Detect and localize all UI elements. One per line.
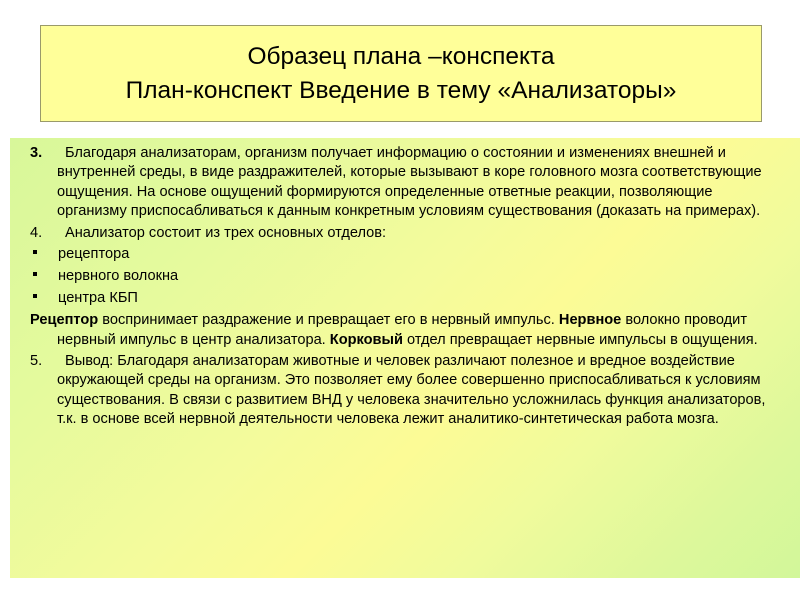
list-item: центра КБП — [20, 287, 785, 309]
bullet-square-icon — [33, 250, 37, 254]
list-item-4-text: Анализатор состоит из трех основных отде… — [57, 224, 785, 243]
list-item: рецептора — [20, 243, 785, 265]
list-item-3-number: 3. — [30, 144, 42, 163]
bullet-square-icon — [33, 272, 37, 276]
list-item-3: 3. Благодаря анализаторам, организм полу… — [20, 144, 785, 221]
bullet-square-icon — [33, 294, 37, 298]
list-item-4-number: 4. — [30, 224, 42, 243]
receptor-paragraph: Рецептор воспринимает раздражение и прев… — [20, 311, 785, 350]
slide-title-line-2: План-конспект Введение в тему «Анализато… — [126, 74, 677, 108]
term-cortical: Корковый — [330, 332, 403, 348]
list-item-5: 5. Вывод: Благодаря анализаторам животны… — [20, 352, 785, 429]
slide: Образец плана –конспекта План-конспект В… — [0, 0, 800, 600]
receptor-text-3: отдел превращает нервные импульсы в ощущ… — [403, 332, 758, 348]
list-item: нервного волокна — [20, 265, 785, 287]
bullet-label: рецептора — [58, 246, 129, 262]
title-box: Образец плана –конспекта План-конспект В… — [40, 25, 762, 122]
bullet-label: центра КБП — [58, 290, 138, 306]
term-nerve-fiber: Нервное — [559, 312, 621, 328]
bullet-label: нервного волокна — [58, 268, 178, 284]
list-item-5-number: 5. — [30, 352, 42, 371]
term-receptor: Рецептор — [30, 312, 98, 328]
list-item-5-text: Вывод: Благодаря анализаторам животные и… — [57, 352, 785, 429]
list-item-4: 4. Анализатор состоит из трех основных о… — [20, 224, 785, 243]
list-item-3-text: Благодаря анализаторам, организм получае… — [57, 144, 785, 221]
receptor-text-1: воспринимает раздражение и превращает ег… — [98, 312, 559, 328]
slide-title-line-1: Образец плана –конспекта — [247, 40, 554, 74]
content-panel: 3. Благодаря анализаторам, организм полу… — [10, 138, 800, 578]
content-body: 3. Благодаря анализаторам, организм полу… — [20, 144, 785, 429]
